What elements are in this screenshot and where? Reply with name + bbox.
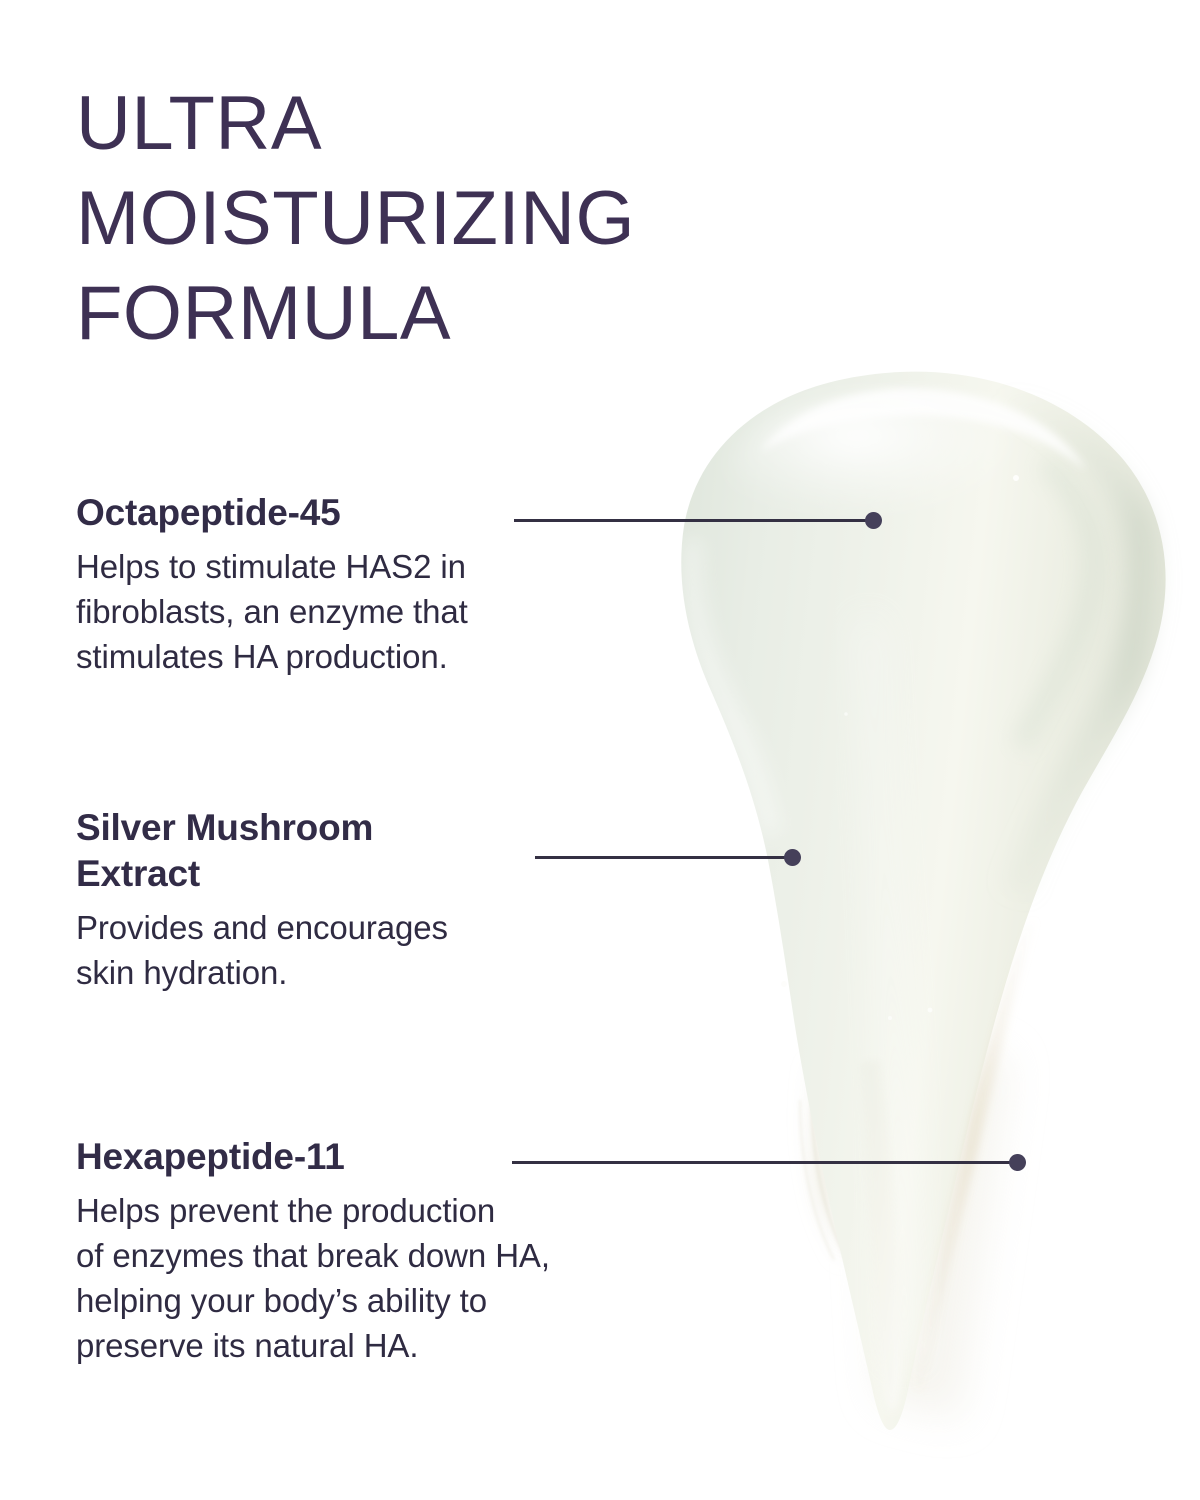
ingredient-description: Provides and encourages skin hydration. (76, 905, 676, 995)
ingredient-description: Helps prevent the production of enzymes … (76, 1188, 796, 1368)
leader-line-endpoint-dot (865, 512, 882, 529)
ingredient-name: Hexapeptide-11 (76, 1134, 796, 1180)
description-line: preserve its natural HA. (76, 1323, 796, 1368)
ingredient-name: Octapeptide-45 (76, 490, 676, 536)
description-line: Provides and encourages (76, 905, 676, 950)
title-line-3: FORMULA (76, 266, 776, 361)
description-line: of enzymes that break down HA, (76, 1233, 796, 1278)
description-line: Helps prevent the production (76, 1188, 796, 1233)
page-title: ULTRA MOISTURIZING FORMULA (76, 76, 776, 361)
ingredient-description: Helps to stimulate HAS2 in fibroblasts, … (76, 544, 676, 679)
ingredient-name-line-1: Silver Mushroom (76, 805, 676, 851)
ingredient-block-hexapeptide-11: Hexapeptide-11 Helps prevent the product… (76, 1134, 796, 1368)
leader-line-stroke (514, 519, 874, 522)
description-line: stimulates HA production. (76, 634, 676, 679)
title-line-2: MOISTURIZING (76, 171, 776, 266)
description-line: helping your body’s ability to (76, 1278, 796, 1323)
description-line: fibroblasts, an enzyme that (76, 589, 676, 634)
description-line: Helps to stimulate HAS2 in (76, 544, 676, 589)
leader-line-stroke (512, 1161, 1018, 1164)
ingredient-block-silver-mushroom-extract: Silver Mushroom Extract Provides and enc… (76, 805, 676, 995)
description-line: skin hydration. (76, 950, 676, 995)
leader-line-endpoint-dot (784, 849, 801, 866)
leader-line-stroke (535, 856, 793, 859)
title-line-1: ULTRA (76, 76, 776, 171)
leader-line-endpoint-dot (1009, 1154, 1026, 1171)
product-ingredient-infographic: ULTRA MOISTURIZING FORMULA Octapeptide-4… (0, 0, 1200, 1500)
